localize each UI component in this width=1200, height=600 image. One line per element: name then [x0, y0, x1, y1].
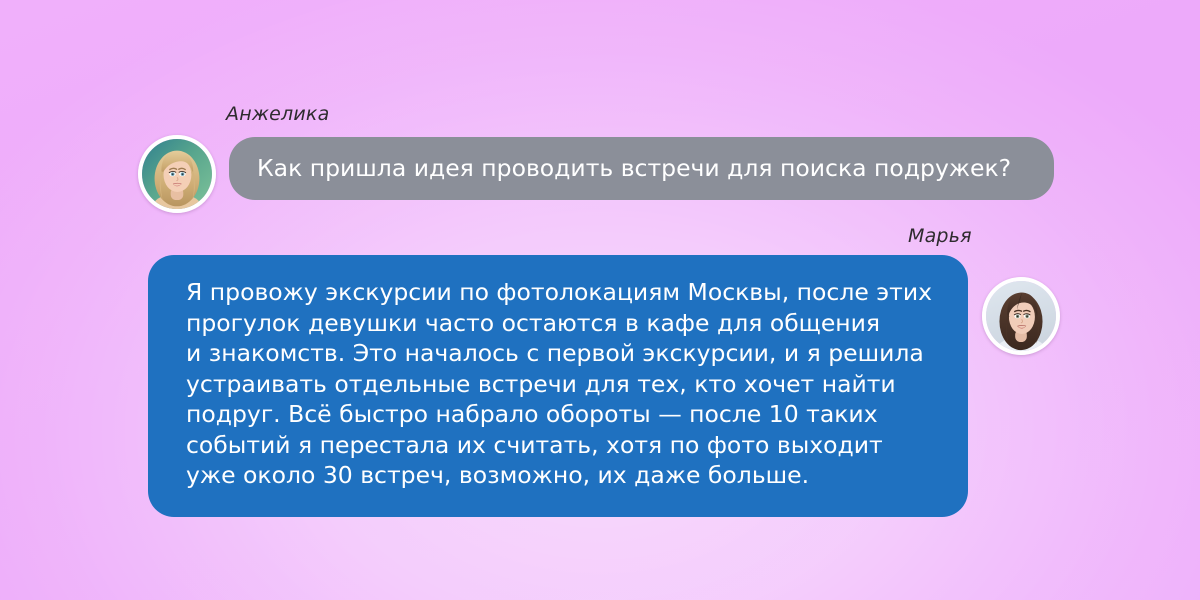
- conversation: Анжелика Марья: [0, 0, 1200, 600]
- message-bubble-outgoing[interactable]: Я провожу экскурсии по фотолокациям Моск…: [148, 255, 968, 517]
- message-line: и знакомств. Это началось с первой экску…: [186, 338, 938, 369]
- message-row-incoming: Как пришла идея проводить встречи для по…: [138, 135, 1054, 213]
- avatar-anzhelika-image: [142, 139, 212, 209]
- message-line: Как пришла идея проводить встречи для по…: [257, 153, 1011, 183]
- chat-canvas: Анжелика Марья: [0, 0, 1200, 600]
- speaker-name-marya: Марья: [908, 225, 972, 247]
- message-line: Я провожу экскурсии по фотолокациям Моск…: [186, 277, 938, 308]
- message-line: событий я перестала их считать, хотя по …: [186, 430, 938, 461]
- avatar-marya[interactable]: [982, 277, 1060, 355]
- message-row-outgoing: Я провожу экскурсии по фотолокациям Моск…: [148, 255, 1060, 517]
- message-line: подруг. Всё быстро набрало обороты — пос…: [186, 399, 938, 430]
- speaker-name-anzhelika: Анжелика: [226, 103, 329, 125]
- message-line: устраивать отдельные встречи для тех, кт…: [186, 369, 938, 400]
- avatar-anzhelika[interactable]: [138, 135, 216, 213]
- message-line: уже около 30 встреч, возможно, их даже б…: [186, 460, 938, 491]
- message-line: прогулок девушки часто остаются в кафе д…: [186, 308, 938, 339]
- message-bubble-incoming[interactable]: Как пришла идея проводить встречи для по…: [229, 137, 1054, 200]
- avatar-marya-image: [986, 281, 1056, 351]
